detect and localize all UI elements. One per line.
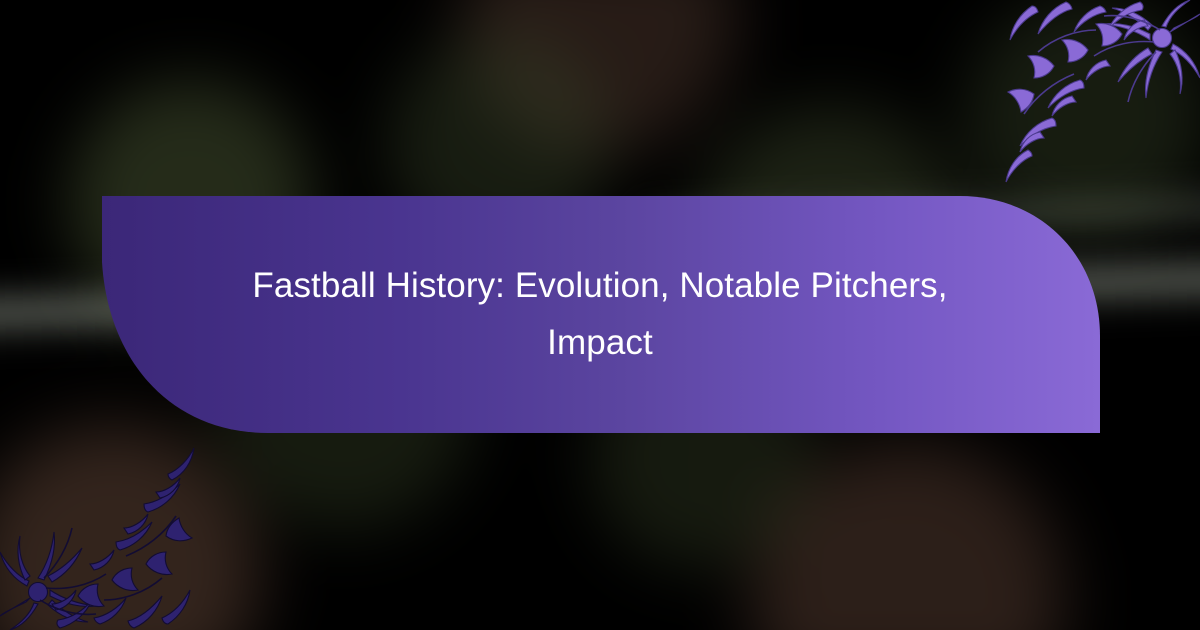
social-share-card: Fastball History: Evolution, Notable Pit… — [0, 0, 1200, 630]
banner-shape — [102, 196, 1100, 433]
title-banner — [0, 0, 1200, 630]
